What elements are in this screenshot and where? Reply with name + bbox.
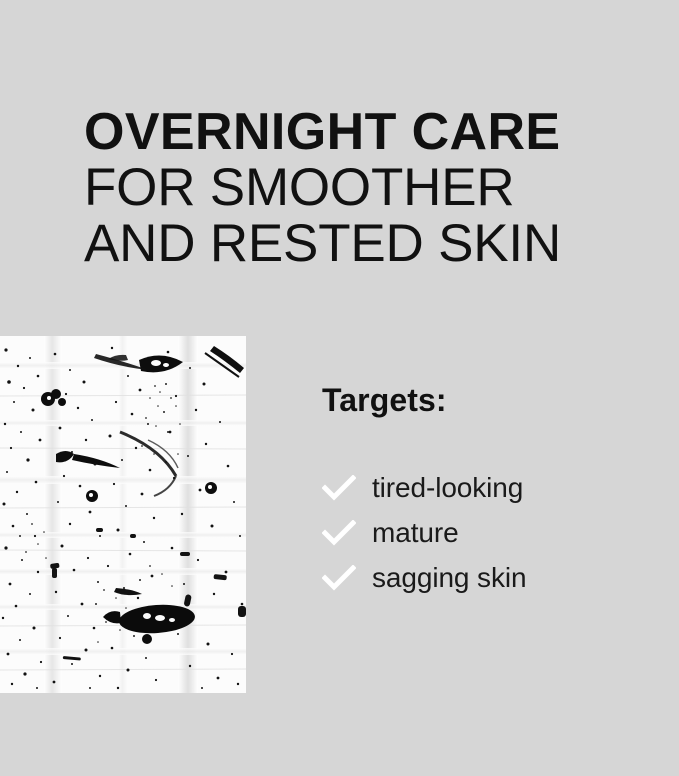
list-item: tired-looking [322, 465, 642, 510]
birch-bark-photo [0, 336, 246, 693]
headline-line-2: FOR SMOOTHER [84, 160, 644, 216]
headline-line-3: AND RESTED SKIN [84, 216, 644, 272]
list-item: mature [322, 510, 642, 555]
headline-line-1: OVERNIGHT CARE [84, 104, 644, 160]
targets-list: tired-looking mature sagging skin [322, 465, 642, 600]
promo-panel: OVERNIGHT CARE FOR SMOOTHER AND RESTED S… [0, 0, 679, 776]
list-item: sagging skin [322, 555, 642, 600]
page-title: OVERNIGHT CARE FOR SMOOTHER AND RESTED S… [84, 104, 644, 272]
check-icon [322, 565, 356, 591]
targets-section: Targets: tired-looking mature sagging sk… [322, 383, 642, 600]
targets-heading: Targets: [322, 383, 642, 417]
check-icon [322, 520, 356, 546]
target-label: mature [372, 518, 459, 548]
target-label: tired-looking [372, 473, 523, 503]
check-icon [322, 475, 356, 501]
target-label: sagging skin [372, 563, 526, 593]
